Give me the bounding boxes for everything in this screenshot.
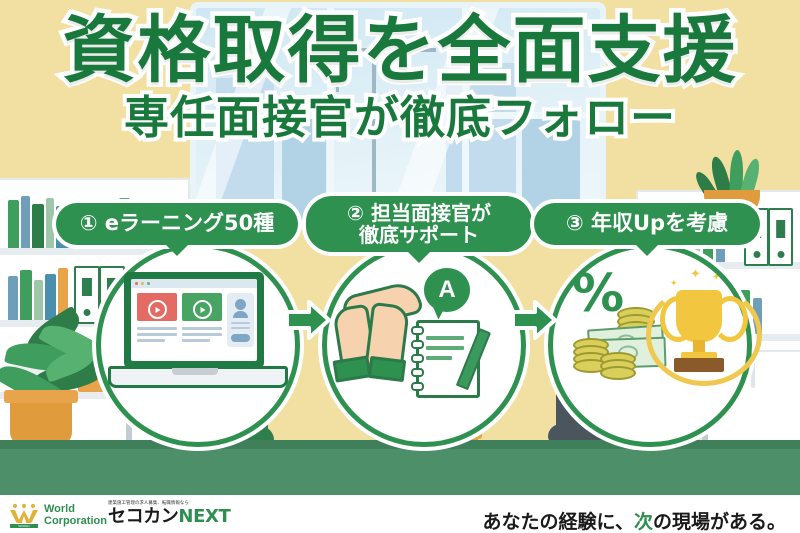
step-1-badge: ① eラーニング50種 (56, 203, 298, 245)
step-3-badge: ③ 年収Upを考慮 (534, 203, 760, 245)
poster-canvas: 資格取得を全面支援 専任面接官が徹底フォロー ① eラーニング50種 (0, 0, 800, 533)
window-dot-yellow (141, 282, 144, 285)
avatar (235, 299, 246, 310)
speech-bubble-a-icon: A (424, 268, 470, 312)
crane-jib (316, 48, 436, 52)
binder-dot (777, 251, 784, 258)
sparkle-icon: ✦ (712, 272, 720, 283)
book (34, 280, 43, 320)
sparkle-icon: ✦ (690, 266, 701, 282)
cuff-right (368, 356, 406, 382)
book (32, 204, 44, 248)
world-corporation-text: World Corporation (44, 504, 107, 527)
book (21, 196, 30, 248)
sekokan-next-logo[interactable]: 建築施工管理の求人募集、転職情報なら セコカンNEXT (108, 502, 230, 527)
binder-icon (768, 208, 793, 266)
binder-dot (84, 309, 91, 316)
book (8, 276, 18, 320)
closing-message: あなたの経験に、次の現場がある。 (483, 507, 786, 533)
binder-clip (82, 278, 92, 296)
closing-message-part-b: の現場がある。 (653, 511, 786, 533)
service-name-jp: セコカン (108, 506, 178, 527)
binder-dot (753, 251, 760, 258)
world-corporation-mark-icon: WORLD (9, 504, 39, 528)
avatar-body (233, 311, 248, 318)
closing-message-highlight: 次 (634, 511, 653, 533)
world-corporation-logo[interactable]: WORLD World Corporation (9, 504, 107, 528)
play-icon (148, 300, 167, 319)
sparkle-icon: ✦ (670, 278, 678, 289)
book (46, 198, 54, 248)
binder-clip (776, 220, 786, 238)
window-dot-red (135, 282, 138, 285)
cabinet-handle (751, 362, 755, 388)
window-mullion (196, 112, 600, 119)
profile-button (231, 334, 250, 342)
crane-cable (336, 52, 339, 92)
play-icon (193, 300, 212, 319)
book (45, 274, 56, 320)
step-2-badge: ② 担当面接官が 徹底サポート (306, 196, 532, 252)
window-dot-green (147, 282, 150, 285)
closing-message-part-a: あなたの経験に、 (483, 511, 634, 533)
book (20, 270, 32, 320)
company-name-line2: Corporation (44, 516, 107, 528)
crane-cable (404, 52, 407, 78)
book (8, 200, 19, 248)
service-name: セコカンNEXT (108, 508, 230, 527)
service-name-en: NEXT (178, 506, 230, 527)
window-icon (196, 8, 600, 223)
world-mark-caption: WORLD (10, 524, 38, 528)
